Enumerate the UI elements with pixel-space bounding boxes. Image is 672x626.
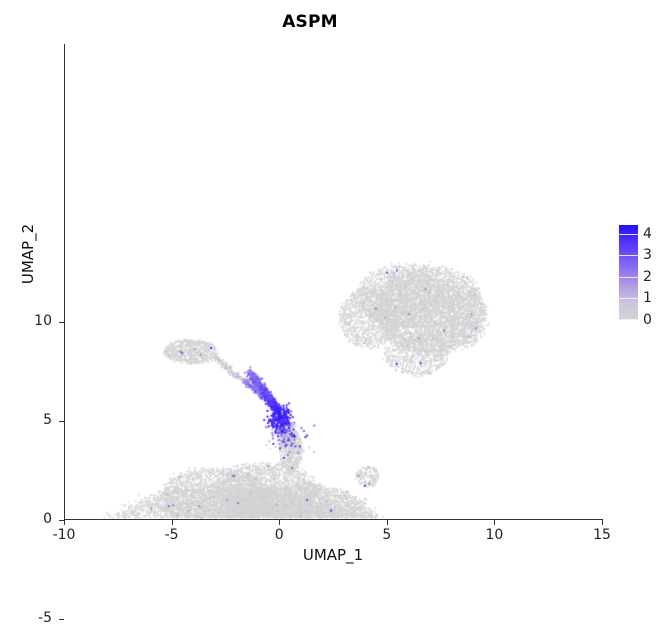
colorbar-tick-label: 1 <box>643 291 652 305</box>
y-tick <box>59 322 64 323</box>
x-tick <box>494 520 495 525</box>
colorbar-tick <box>619 255 638 256</box>
colorbar-tick-label: 0 <box>643 313 652 327</box>
x-tick-label: -5 <box>147 527 197 543</box>
x-tick <box>64 520 65 525</box>
y-tick-label: 5 <box>12 412 52 428</box>
y-tick <box>59 421 64 422</box>
y-tick-label: -5 <box>12 610 52 626</box>
colorbar-tick <box>619 319 638 320</box>
feature-plot-figure: ASPM -10-5051015 -50510 UMAP_1 UMAP_2 43… <box>0 0 672 576</box>
x-tick-label: 5 <box>362 527 412 543</box>
x-axis-line <box>64 519 603 520</box>
x-tick <box>602 520 603 525</box>
color-legend: 43210 <box>619 225 671 325</box>
y-axis-line <box>64 44 65 520</box>
scatter-canvas <box>0 0 672 576</box>
x-tick <box>172 520 173 525</box>
x-tick <box>279 520 280 525</box>
x-tick-label: -10 <box>39 527 89 543</box>
colorbar-tick <box>619 234 638 235</box>
colorbar-tick-label: 4 <box>643 227 652 241</box>
x-tick-label: 10 <box>469 527 519 543</box>
colorbar-gradient <box>619 225 638 320</box>
colorbar-tick-label: 3 <box>643 248 652 262</box>
x-tick-label: 0 <box>254 527 304 543</box>
x-tick-label: 15 <box>577 527 627 543</box>
colorbar-tick-label: 2 <box>643 270 652 284</box>
colorbar-tick <box>619 298 638 299</box>
y-tick <box>59 520 64 521</box>
x-tick <box>387 520 388 525</box>
y-tick-label: 0 <box>12 511 52 527</box>
y-axis-label: UMAP_2 <box>19 174 37 334</box>
x-axis-label: UMAP_1 <box>64 546 602 564</box>
colorbar-tick <box>619 277 638 278</box>
y-tick <box>59 619 64 620</box>
